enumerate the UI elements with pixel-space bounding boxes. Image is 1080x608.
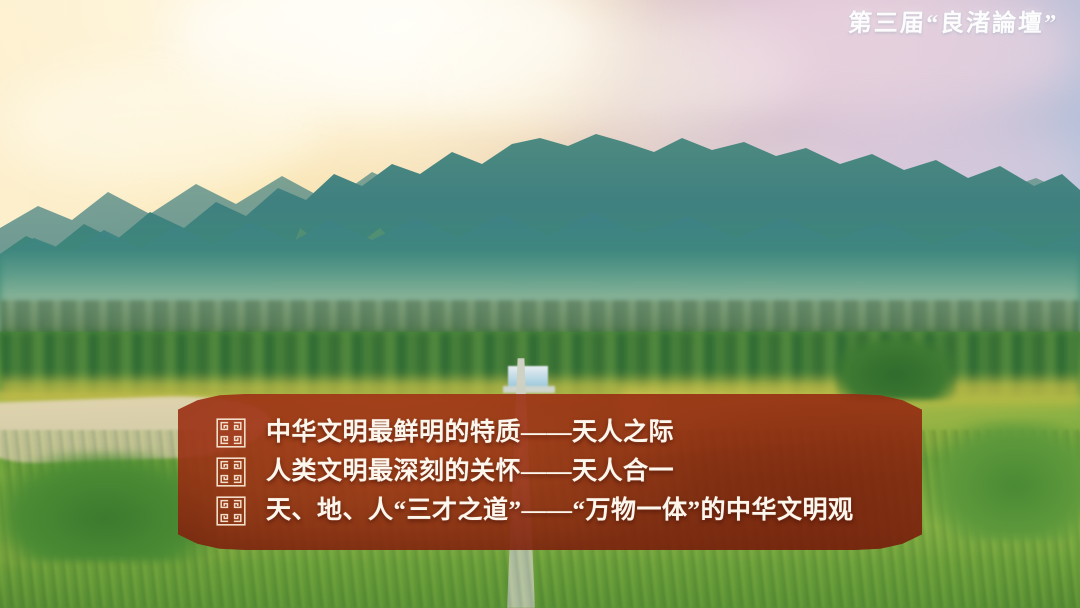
meander-seal-icon [216,496,246,526]
caption-banner: 中华文明最鲜明的特质——天人之际 人类文明最深刻的关怀——天人合一 [178,394,922,550]
banner-line-list: 中华文明最鲜明的特质——天人之际 人类文明最深刻的关怀——天人合一 [178,394,922,550]
banner-line: 天、地、人“三才之道”——“万物一体”的中华文明观 [216,496,922,526]
slide-canvas: 第三届“良渚論壇” 中华文明最鲜明的特质——天人之际 [0,0,1080,608]
bush-right-upper [836,338,956,400]
banner-line-text: 中华文明最鲜明的特质——天人之际 [266,418,674,448]
meander-seal-icon [216,457,246,487]
monument-base [503,386,555,393]
banner-line: 中华文明最鲜明的特质——天人之际 [216,418,922,448]
forum-watermark: 第三届“良渚論壇” [847,12,1058,36]
meander-seal-icon [216,418,246,448]
banner-line-text: 天、地、人“三才之道”——“万物一体”的中华文明观 [266,496,854,526]
bush-right [930,420,1080,540]
banner-line-text: 人类文明最深刻的关怀——天人合一 [266,457,674,487]
banner-line: 人类文明最深刻的关怀——天人合一 [216,457,922,487]
